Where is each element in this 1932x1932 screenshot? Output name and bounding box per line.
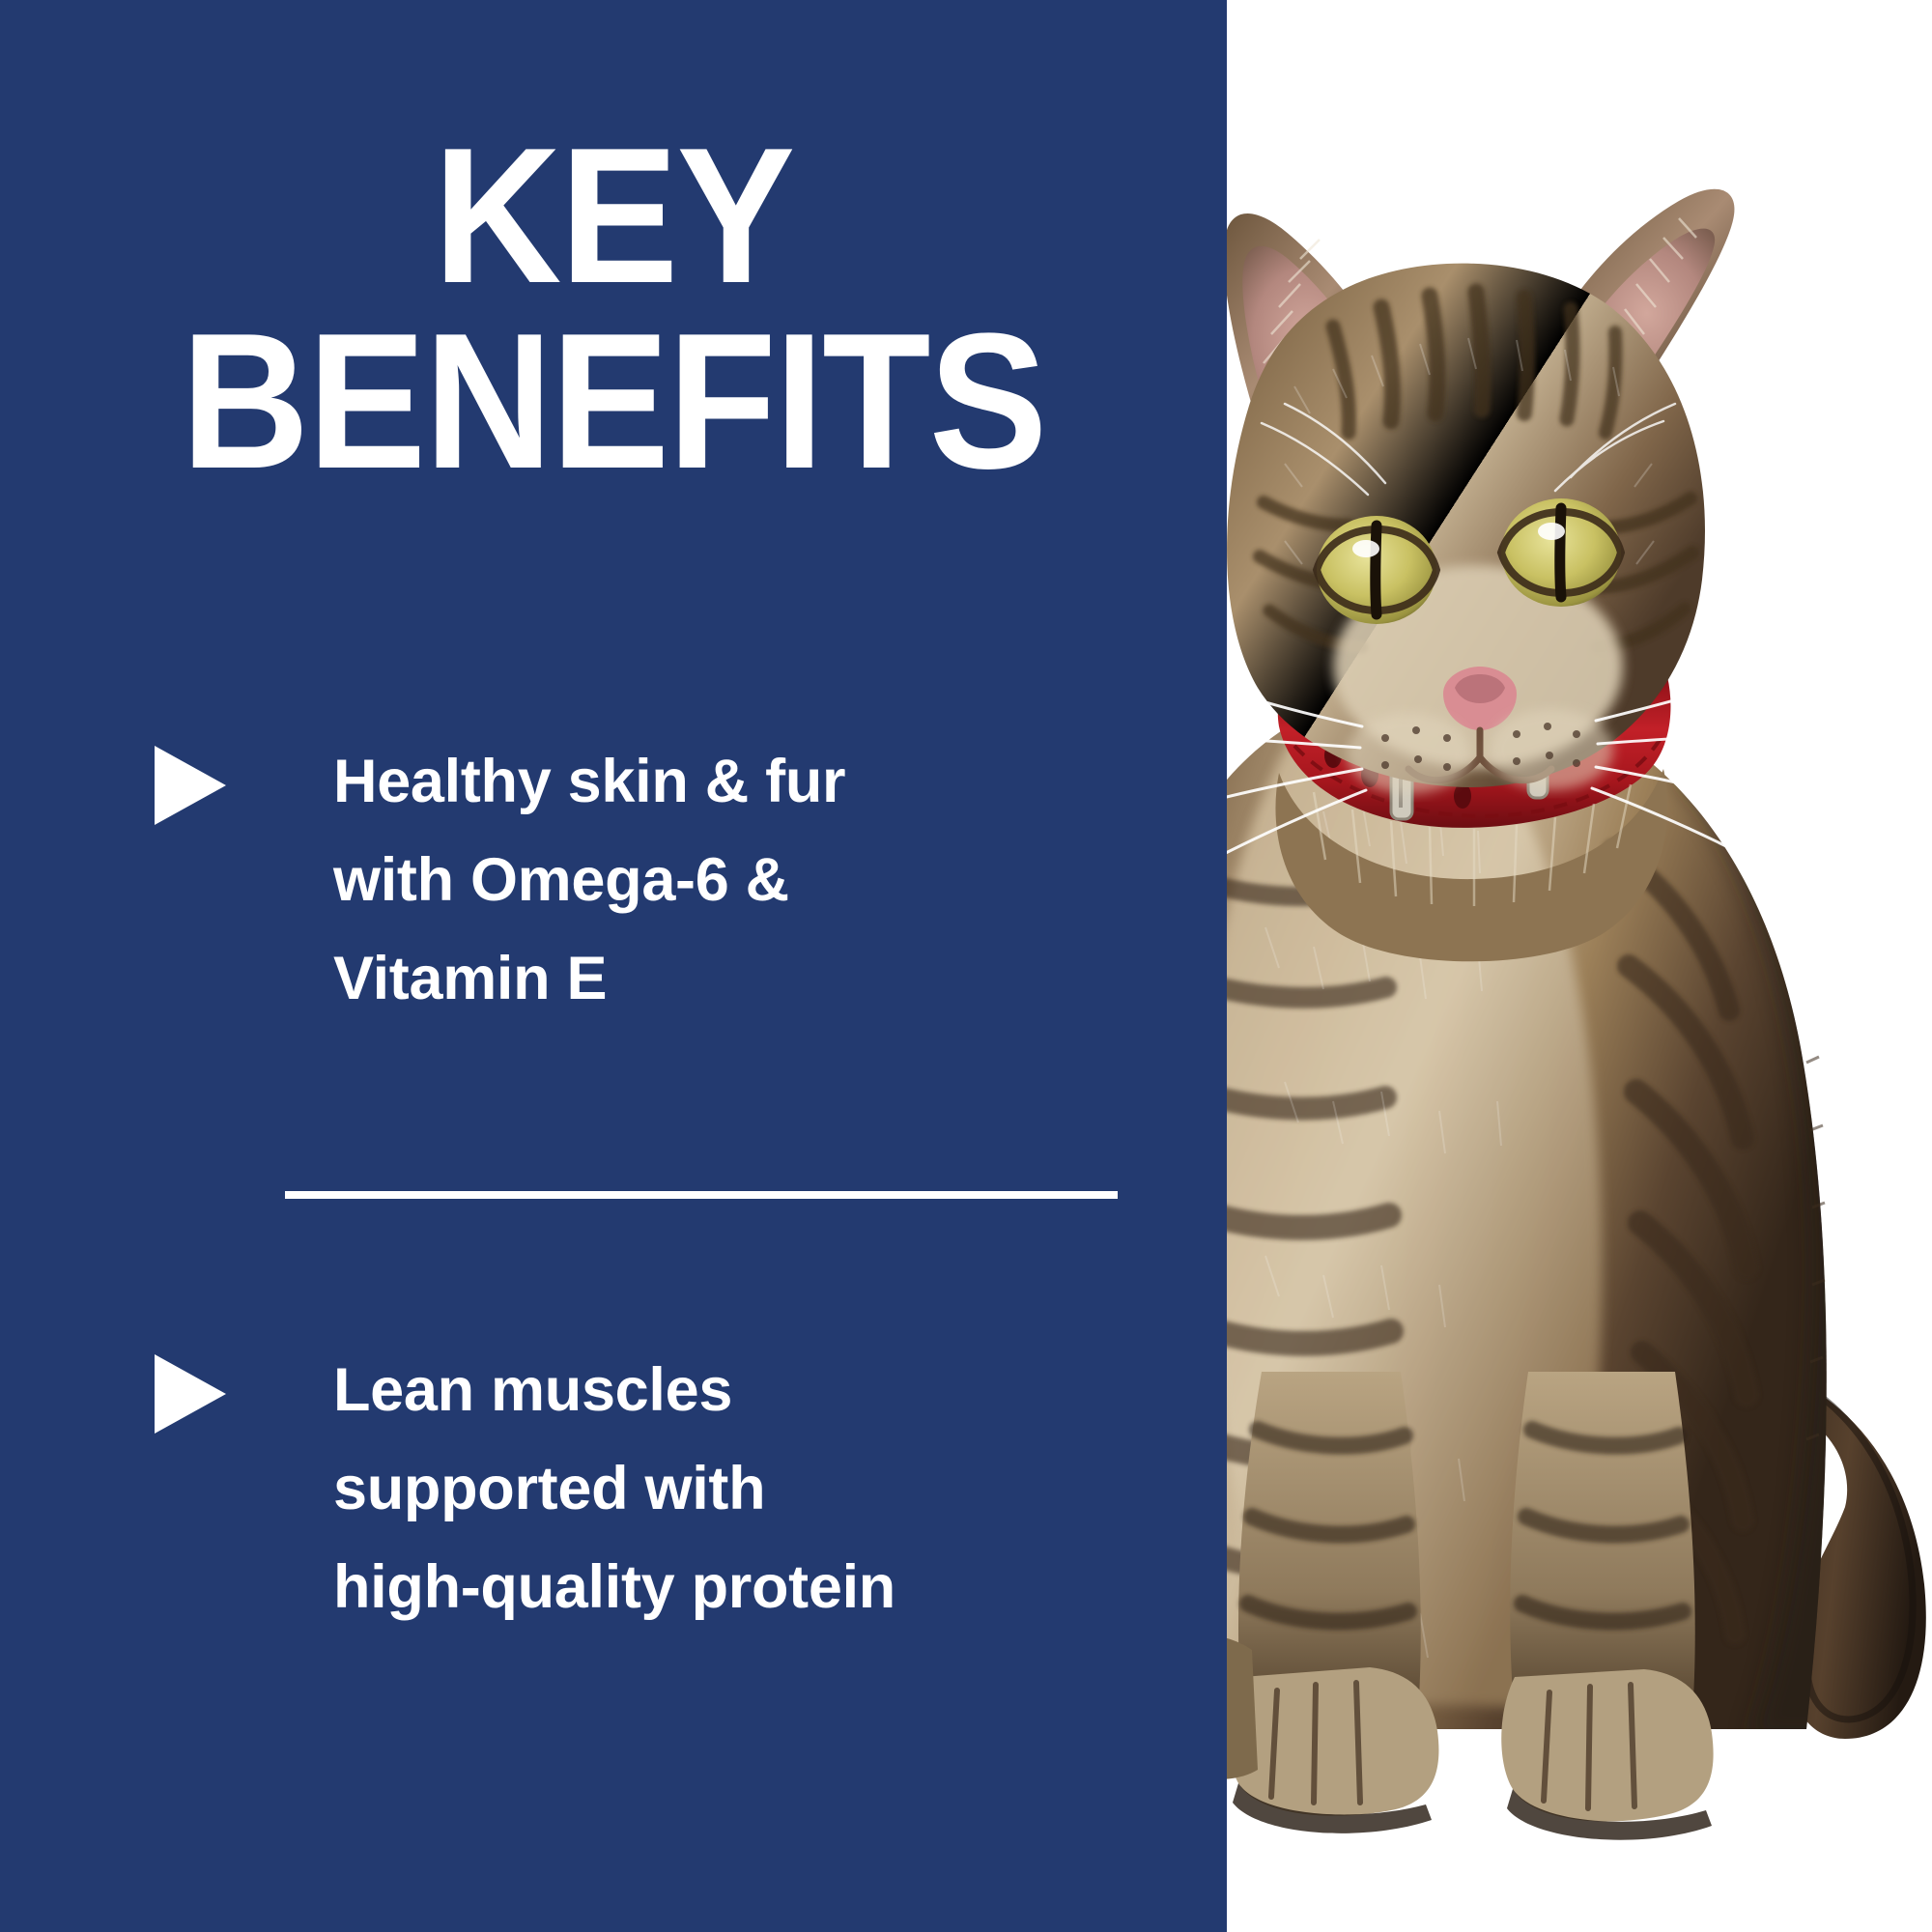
benefit-2-line-2: supported with <box>333 1439 1179 1538</box>
cat-illustration <box>1227 0 1932 1932</box>
benefit-item-2-label: Lean muscles supported with high-quality… <box>333 1341 1179 1636</box>
page-title: KEY BENEFITS <box>49 124 1178 495</box>
key-benefits-panel: KEY BENEFITS Healthy skin & fur with Ome… <box>0 0 1932 1932</box>
page-title-line-1: KEY <box>49 124 1178 309</box>
benefit-2-line-1: Lean muscles <box>333 1341 1179 1439</box>
divider <box>285 1191 1118 1199</box>
benefit-2-line-3: high-quality protein <box>333 1538 1179 1636</box>
benefit-item-1: Healthy skin & fur with Omega-6 & Vitami… <box>155 732 1179 1028</box>
benefit-1-line-3: Vitamin E <box>333 929 1179 1028</box>
triangle-right-icon <box>155 732 333 825</box>
page-title-line-2: BENEFITS <box>49 309 1178 495</box>
benefit-1-line-1: Healthy skin & fur <box>333 732 1179 831</box>
benefit-item-1-label: Healthy skin & fur with Omega-6 & Vitami… <box>333 732 1179 1028</box>
benefit-item-2: Lean muscles supported with high-quality… <box>155 1341 1179 1636</box>
triangle-right-icon <box>155 1341 333 1434</box>
benefit-1-line-2: with Omega-6 & <box>333 831 1179 929</box>
cat-photo <box>1227 0 1932 1932</box>
